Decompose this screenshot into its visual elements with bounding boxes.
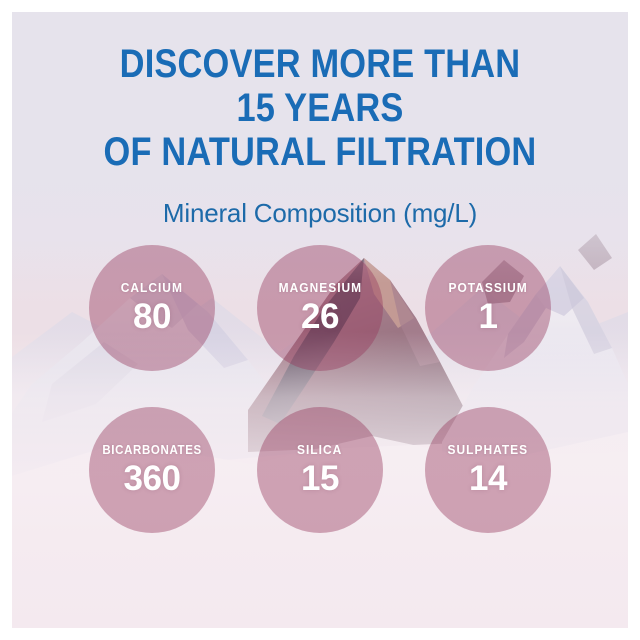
- mineral-value: 360: [124, 460, 181, 498]
- headline-line-1: DISCOVER MORE THAN: [55, 42, 585, 86]
- mineral-circle-sulphates: SULPHATES 14: [425, 407, 551, 533]
- page-title: DISCOVER MORE THAN 15 YEARS OF NATURAL F…: [55, 42, 585, 174]
- mineral-circle-magnesium: MAGNESIUM 26: [257, 245, 383, 371]
- mineral-label: POTASSIUM: [448, 281, 527, 295]
- mineral-water-poster: DISCOVER MORE THAN 15 YEARS OF NATURAL F…: [12, 12, 628, 628]
- mineral-value: 26: [301, 298, 339, 336]
- mineral-label: MAGNESIUM: [278, 281, 362, 295]
- mineral-label: SULPHATES: [448, 443, 529, 457]
- mineral-label: SILICA: [297, 443, 342, 457]
- mineral-label: BICARBONATES: [102, 443, 202, 457]
- mineral-value: 1: [479, 298, 498, 336]
- mineral-circle-silica: SILICA 15: [257, 407, 383, 533]
- headline-line-3: OF NATURAL FILTRATION: [55, 130, 585, 174]
- headline-line-2: 15 YEARS: [55, 86, 585, 130]
- mineral-circle-potassium: POTASSIUM 1: [425, 245, 551, 371]
- mineral-circle-calcium: CALCIUM 80: [89, 245, 215, 371]
- mineral-circle-bicarbonates: BICARBONATES 360: [89, 407, 215, 533]
- mineral-label: CALCIUM: [121, 281, 183, 295]
- mineral-value: 80: [133, 298, 171, 336]
- mineral-value: 14: [469, 460, 507, 498]
- mineral-value: 15: [301, 460, 339, 498]
- subtitle: Mineral Composition (mg/L): [12, 198, 628, 229]
